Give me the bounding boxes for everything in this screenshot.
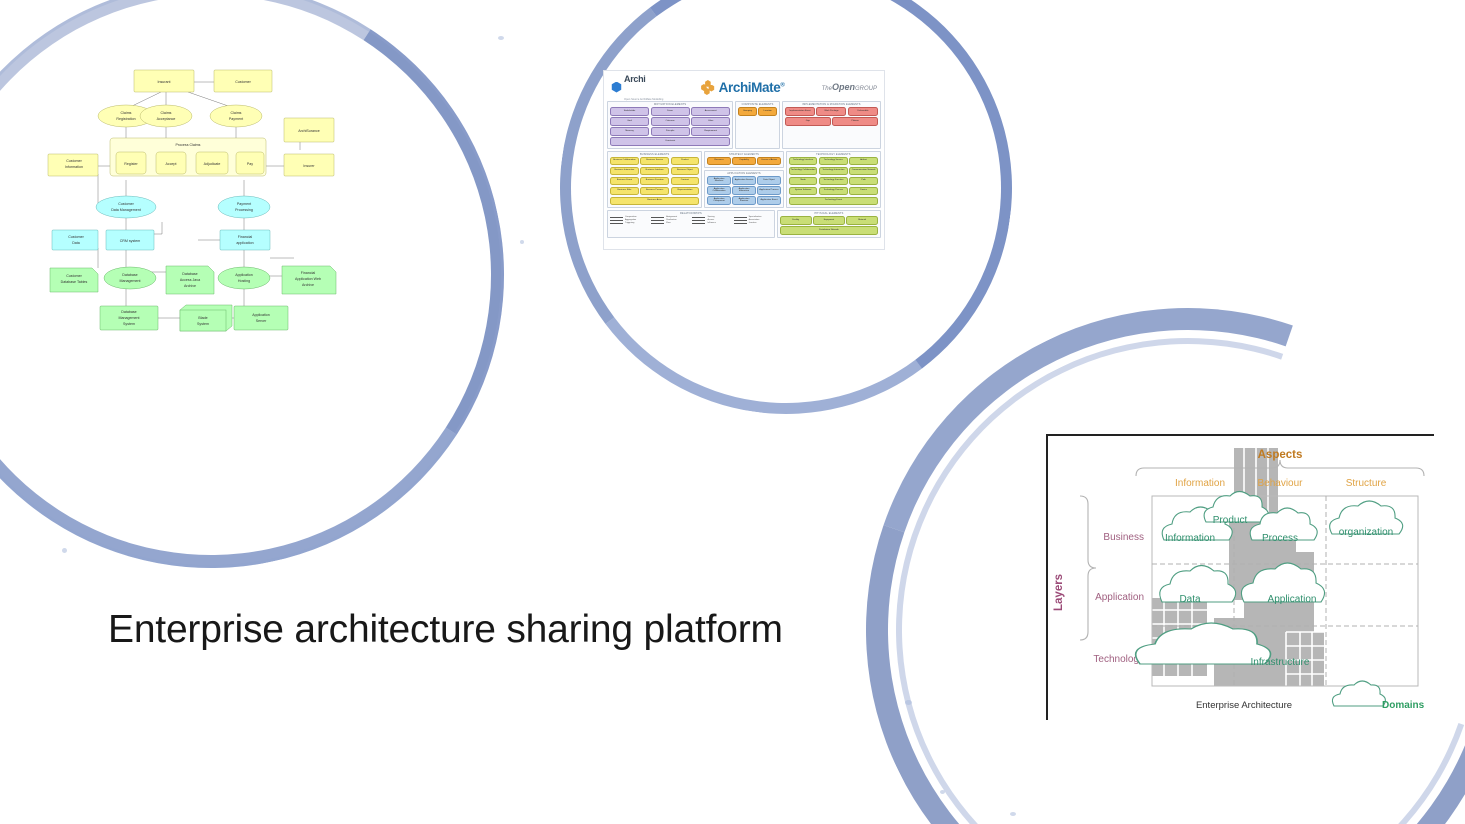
relationship-item[interactable]: Specialization: [734, 216, 772, 218]
poster-element[interactable]: Business Role: [610, 187, 639, 196]
archimate-hex-icon: [701, 80, 716, 94]
element-grid: Business CollaborationBusiness ServicePr…: [610, 157, 699, 206]
layer-label-business: Business: [1103, 532, 1144, 543]
aspect-label-behaviour: Behaviour: [1257, 478, 1303, 489]
relationship-label: Serving: [707, 216, 714, 218]
domain-label-infrastructure: Infrastructure: [1251, 657, 1310, 668]
relationship-item[interactable]: Access: [692, 219, 730, 221]
model-node-label: Registration: [116, 117, 135, 121]
poster-element[interactable]: Material: [846, 216, 878, 225]
model-node-label: Claims: [121, 111, 132, 115]
model-node-label: Blade: [198, 316, 207, 320]
domains-legend-cloud-icon: [1332, 681, 1385, 706]
archimate-framework-diagram[interactable]: Aspects Information Behaviour Structure …: [1046, 434, 1434, 720]
poster-element[interactable]: Business Service: [640, 157, 669, 166]
model-node-label: Claims: [161, 111, 172, 115]
element-grid: Implementation EventWork PackageDelivera…: [785, 107, 878, 126]
relationship-line-icon: [692, 220, 705, 221]
poster-element[interactable]: Business Interface: [640, 167, 669, 176]
relationship-item[interactable]: Influence: [692, 222, 730, 224]
model-node-label: Information: [65, 165, 83, 169]
model-node-label: System: [197, 322, 209, 326]
relationship-label: Aggregation: [625, 219, 636, 221]
poster-element[interactable]: Distribution Network: [780, 226, 878, 235]
poster-element[interactable]: Meaning: [610, 127, 649, 136]
poster-section-implementation[interactable]: IMPLEMENTATION & MIGRATION ELEMENTS Impl…: [782, 101, 881, 149]
poster-element[interactable]: Business Function: [640, 177, 669, 186]
model-node-label: Adjudicate: [204, 162, 221, 166]
poster-section-motivation[interactable]: MOTIVATION ELEMENTS StakeholderDriverAss…: [607, 101, 733, 149]
archi-logo: Archi Open Source ArchiMate Modelling: [611, 69, 663, 105]
relationship-label: Access: [707, 219, 714, 221]
model-node-label: ArchiSurance: [298, 129, 320, 133]
relationship-label: Assignment: [666, 216, 677, 218]
poster-section-composite[interactable]: COMPOSITE ELEMENTS GroupingLocation: [735, 101, 780, 149]
relationship-grid: CompositionAssignmentServingSpecializati…: [610, 216, 772, 224]
model-node-label: Data: [72, 241, 80, 245]
element-grid: StakeholderDriverAssessmentGoalOutcomeVa…: [610, 107, 730, 146]
archimate-model-thumbnail[interactable]: Insurant Customer Claims Registration Cl…: [38, 62, 358, 352]
model-node-label: Financial: [238, 235, 253, 239]
relationship-line-icon: [651, 217, 664, 218]
framework-footer-label: Enterprise Architecture: [1196, 700, 1292, 711]
poster-element[interactable]: Course of Action: [757, 157, 780, 166]
relationship-line-icon: [651, 223, 664, 224]
model-node-label: Processing: [235, 208, 253, 212]
poster-element[interactable]: Technology Event: [789, 197, 878, 206]
poster-element[interactable]: Technology Function: [819, 177, 848, 186]
poster-header: Archi Open Source ArchiMate Modelling Ar…: [607, 74, 881, 100]
poster-section-business[interactable]: BUSINESS ELEMENTS Business Collaboration…: [607, 151, 702, 209]
relationship-line-icon: [734, 217, 747, 218]
relationship-item[interactable]: Realization: [651, 219, 689, 221]
poster-element[interactable]: Application Interface: [707, 176, 730, 185]
poster-element[interactable]: Business Object: [671, 167, 700, 176]
model-node-label: Server: [256, 319, 267, 323]
poster-element[interactable]: Plateau: [832, 117, 878, 126]
poster-element[interactable]: Artifact: [849, 157, 878, 166]
poster-element[interactable]: Deliverable: [848, 107, 878, 116]
poster-element[interactable]: Application Component: [707, 196, 730, 205]
model-node-label: Insurer: [303, 164, 315, 168]
poster-element[interactable]: Requirement: [691, 127, 730, 136]
relationship-line-icon: [734, 220, 747, 221]
element-grid: GroupingLocation: [738, 107, 777, 116]
model-node-label: Customer: [66, 274, 82, 278]
poster-section-strategy[interactable]: STRATEGY ELEMENTS ResourceCapabilityCour…: [704, 151, 783, 169]
relationship-label: Junction: [749, 222, 757, 224]
layers-title: Layers: [1053, 574, 1065, 611]
poster-element[interactable]: Constraint: [610, 137, 730, 146]
poster-section-application[interactable]: APPLICATION ELEMENTS Application Interfa…: [704, 170, 783, 208]
element-grid: Application InterfaceApplication Service…: [707, 176, 780, 205]
poster-element[interactable]: Application Interaction: [732, 186, 755, 195]
model-node-label: application: [236, 241, 253, 245]
poster-element[interactable]: Technology Collaboration: [789, 167, 818, 176]
model-node-label: Archive: [302, 283, 314, 287]
poster-element[interactable]: Technology Process: [819, 187, 848, 196]
relationship-label: Specialization: [749, 216, 762, 218]
poster-element[interactable]: Product: [671, 157, 700, 166]
model-node-label: Database: [122, 273, 137, 277]
domain-label-data: Data: [1179, 594, 1201, 605]
archimate-title: ArchiMate®: [719, 80, 785, 95]
relationship-item[interactable]: Composition: [610, 216, 648, 218]
model-node-label: Management: [120, 279, 141, 283]
element-grid: ResourceCapabilityCourse of Action: [707, 157, 780, 166]
poster-element[interactable]: Stakeholder: [610, 107, 649, 116]
model-node-label: Payment: [237, 202, 251, 206]
poster-element[interactable]: Application Process: [757, 186, 780, 195]
poster-element[interactable]: Gap: [785, 117, 831, 126]
model-node-label: Data Management: [111, 208, 141, 212]
relationship-item[interactable]: Association: [734, 219, 772, 221]
model-node-label: Access Java: [180, 278, 200, 282]
poster-element[interactable]: Goal: [610, 117, 649, 126]
model-node-label: Management: [119, 316, 140, 320]
poster-element[interactable]: Representation: [671, 187, 700, 196]
poster-row-middle: BUSINESS ELEMENTS Business Collaboration…: [607, 151, 881, 209]
relationship-label: Realization: [666, 219, 676, 221]
relationship-label: Triggering: [625, 222, 634, 224]
archimate-title-block: ArchiMate®: [701, 80, 785, 95]
poster-element[interactable]: Application Collaboration: [707, 186, 730, 195]
poster-element[interactable]: Location: [758, 107, 777, 116]
model-node-label: Customer: [66, 159, 82, 163]
model-node-label: Hosting: [238, 279, 250, 283]
element-grid: FacilityEquipmentMaterialDistribution Ne…: [780, 216, 878, 235]
aspects-title: Aspects: [1258, 449, 1303, 461]
aspect-label-structure: Structure: [1346, 478, 1387, 489]
model-node-label: Accept: [166, 162, 177, 166]
poster-element[interactable]: Resource: [707, 157, 730, 166]
poster-element[interactable]: Value: [691, 117, 730, 126]
layer-label-application: Application: [1095, 592, 1144, 603]
poster-section-relationships[interactable]: RELATIONSHIPS CompositionAssignmentServi…: [607, 210, 775, 238]
domain-label-information: Information: [1165, 533, 1215, 544]
model-node-label: Application Web: [295, 277, 321, 281]
poster-element[interactable]: Business Interaction: [610, 167, 639, 176]
domains-legend-label: Domains: [1382, 700, 1425, 711]
poster-element[interactable]: Node: [789, 177, 818, 186]
slide-canvas: Insurant Customer Claims Registration Cl…: [0, 0, 1465, 824]
model-node-label: System: [123, 322, 135, 326]
poster-element[interactable]: Grouping: [738, 107, 757, 116]
relationship-item[interactable]: Flow: [651, 222, 689, 224]
poster-element[interactable]: Business Collaboration: [610, 157, 639, 166]
poster-element[interactable]: Capability: [732, 157, 755, 166]
poster-element[interactable]: Business Actor: [610, 197, 699, 206]
relationship-item[interactable]: Triggering: [610, 222, 648, 224]
domain-label-application: Application: [1268, 594, 1317, 605]
domain-label-organization: organization: [1339, 527, 1393, 538]
poster-element[interactable]: Implementation Event: [785, 107, 815, 116]
model-node-label: Financial: [301, 271, 316, 275]
poster-element[interactable]: Data Object: [757, 176, 780, 185]
model-node-label: Payment: [229, 117, 243, 121]
poster-element[interactable]: Path: [849, 177, 878, 186]
model-node-label: Application: [252, 313, 270, 317]
domain-label-process: Process: [1262, 533, 1298, 544]
relationship-item[interactable]: Aggregation: [610, 219, 648, 221]
poster-element[interactable]: Device: [849, 187, 878, 196]
paint-speck: [62, 548, 67, 553]
model-node-label: Acceptance: [157, 117, 176, 121]
poster-element[interactable]: Technology Interface: [789, 157, 818, 166]
relationship-label: Composition: [625, 216, 637, 218]
aspect-label-information: Information: [1175, 478, 1225, 489]
poster-section-physical[interactable]: PHYSICAL ELEMENTS FacilityEquipmentMater…: [777, 210, 881, 238]
relationship-line-icon: [692, 223, 705, 224]
model-node-label: CRM system: [120, 239, 141, 243]
model-node-label: Register: [124, 162, 138, 166]
poster-element[interactable]: Technology Service: [819, 157, 848, 166]
model-node-label: Database: [121, 310, 136, 314]
open-group-logo: TheOpenGROUP: [822, 82, 877, 92]
model-node-label: Claims: [231, 111, 242, 115]
relationship-item[interactable]: Serving: [692, 216, 730, 218]
poster-element[interactable]: Contract: [671, 177, 700, 186]
relationship-line-icon: [692, 217, 705, 218]
relationship-item[interactable]: Junction: [734, 222, 772, 224]
poster-element[interactable]: Work Package: [816, 107, 846, 116]
relationship-line-icon: [610, 223, 623, 224]
poster-element[interactable]: Communication Network: [849, 167, 878, 176]
poster-element[interactable]: System Software: [789, 187, 818, 196]
relationship-line-icon: [651, 220, 664, 221]
model-node-label: Customer: [235, 80, 251, 84]
model-node-label: Database: [182, 272, 197, 276]
paint-speck: [905, 700, 912, 705]
poster-element[interactable]: Business Event: [610, 177, 639, 186]
poster-element[interactable]: Driver: [651, 107, 690, 116]
relationship-line-icon: [734, 223, 747, 224]
model-group-label: Process Claims: [176, 143, 201, 147]
domain-label-product: Product: [1213, 515, 1248, 526]
model-node-label: Customer: [118, 202, 134, 206]
poster-element[interactable]: Outcome: [651, 117, 690, 126]
poster-element[interactable]: Application Function: [732, 196, 755, 205]
paint-speck: [520, 240, 524, 244]
poster-section-technology[interactable]: TECHNOLOGY ELEMENTS Technology Interface…: [786, 151, 881, 209]
poster-element[interactable]: Application Event: [757, 196, 780, 205]
poster-element[interactable]: Equipment: [813, 216, 845, 225]
paint-speck: [498, 36, 504, 40]
relationship-item[interactable]: Assignment: [651, 216, 689, 218]
archi-wordmark: Archi: [624, 74, 646, 84]
model-node-label: Insurant: [158, 80, 171, 84]
poster-element[interactable]: Business Process: [640, 187, 669, 196]
model-node-label: Database Tables: [61, 280, 88, 284]
model-node-label: Application: [235, 273, 253, 277]
poster-row-bottom: RELATIONSHIPS CompositionAssignmentServi…: [607, 210, 881, 238]
model-node-label: Customer: [68, 235, 84, 239]
archimate-poster-thumbnail[interactable]: Archi Open Source ArchiMate Modelling Ar…: [603, 70, 885, 250]
page-title: Enterprise architecture sharing platform: [108, 608, 968, 652]
poster-row-top: MOTIVATION ELEMENTS StakeholderDriverAss…: [607, 101, 881, 149]
relationship-label: Association: [749, 219, 760, 221]
relationship-label: Flow: [666, 222, 670, 224]
poster-element[interactable]: Facility: [780, 216, 812, 225]
relationship-label: Influence: [707, 222, 715, 224]
model-node-label: Pay: [247, 162, 253, 166]
relationship-line-icon: [610, 217, 623, 218]
archi-hex-icon: [611, 82, 622, 93]
paint-speck: [1010, 812, 1016, 816]
element-grid: Technology InterfaceTechnology ServiceAr…: [789, 157, 878, 206]
poster-element[interactable]: Principle: [651, 127, 690, 136]
model-node-label: Archive: [184, 284, 196, 288]
poster-element[interactable]: Application Service: [732, 176, 755, 185]
poster-element[interactable]: Assessment: [691, 107, 730, 116]
paint-speck: [940, 790, 945, 794]
poster-element[interactable]: Technology Interaction: [819, 167, 848, 176]
relationship-line-icon: [610, 220, 623, 221]
